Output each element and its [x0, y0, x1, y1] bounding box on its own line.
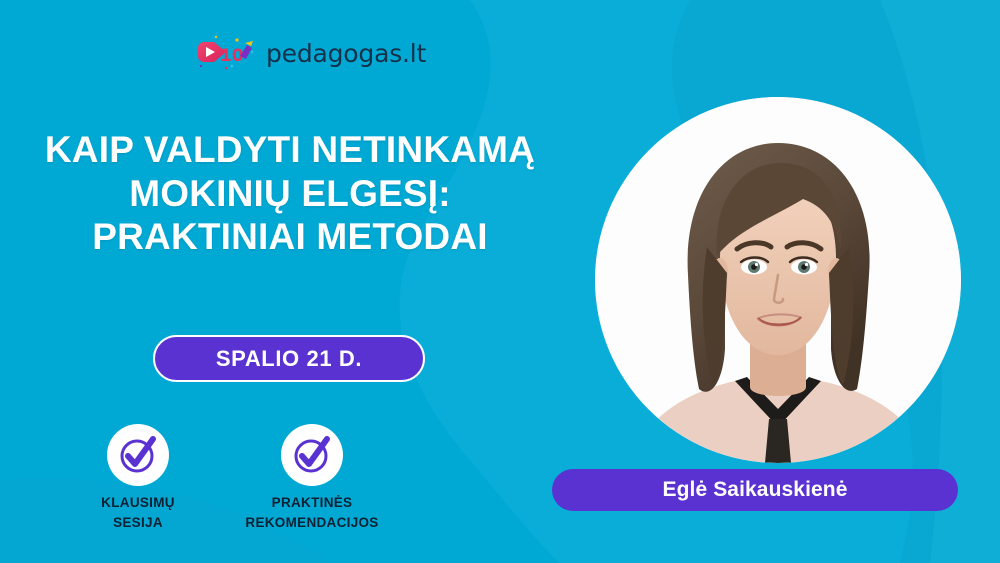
- page-title-line-3: PRAKTINIAI METODAI: [0, 215, 580, 259]
- feature-item-klausimu-sesija: KLAUSIMŲ SESIJA: [68, 424, 208, 532]
- speaker-name-label: Eglė Saikauskienė: [663, 478, 848, 502]
- brand-logo[interactable]: 10 pedagogas.lt: [196, 34, 426, 72]
- page-title: KAIP VALDYTI NETINKAMĄ MOKINIŲ ELGESĮ: P…: [0, 128, 580, 259]
- speaker-photo: [595, 97, 961, 463]
- date-badge-label: SPALIO 21 D.: [216, 346, 362, 372]
- speaker-name-badge[interactable]: Eglė Saikauskienė: [552, 469, 958, 511]
- feature-list: KLAUSIMŲ SESIJA PRAKTINĖS REKOMENDACIJOS: [68, 424, 382, 532]
- feature-item-label: KLAUSIMŲ SESIJA: [101, 493, 175, 532]
- feature-item-label: PRAKTINĖS REKOMENDACIJOS: [245, 493, 378, 532]
- speaker-portrait: [595, 97, 961, 463]
- page-title-line-1: KAIP VALDYTI NETINKAMĄ: [0, 128, 580, 172]
- check-circle-icon: [107, 424, 169, 486]
- play-button-10-logo-icon: 10: [196, 34, 258, 72]
- brand-logo-text: pedagogas.lt: [266, 41, 426, 66]
- check-circle-icon: [281, 424, 343, 486]
- feature-item-praktines-rekomendacijos: PRAKTINĖS REKOMENDACIJOS: [242, 424, 382, 532]
- page-title-line-2: MOKINIŲ ELGESĮ:: [0, 172, 580, 216]
- date-badge[interactable]: SPALIO 21 D.: [153, 335, 425, 382]
- speaker-portrait-disc: [595, 97, 961, 463]
